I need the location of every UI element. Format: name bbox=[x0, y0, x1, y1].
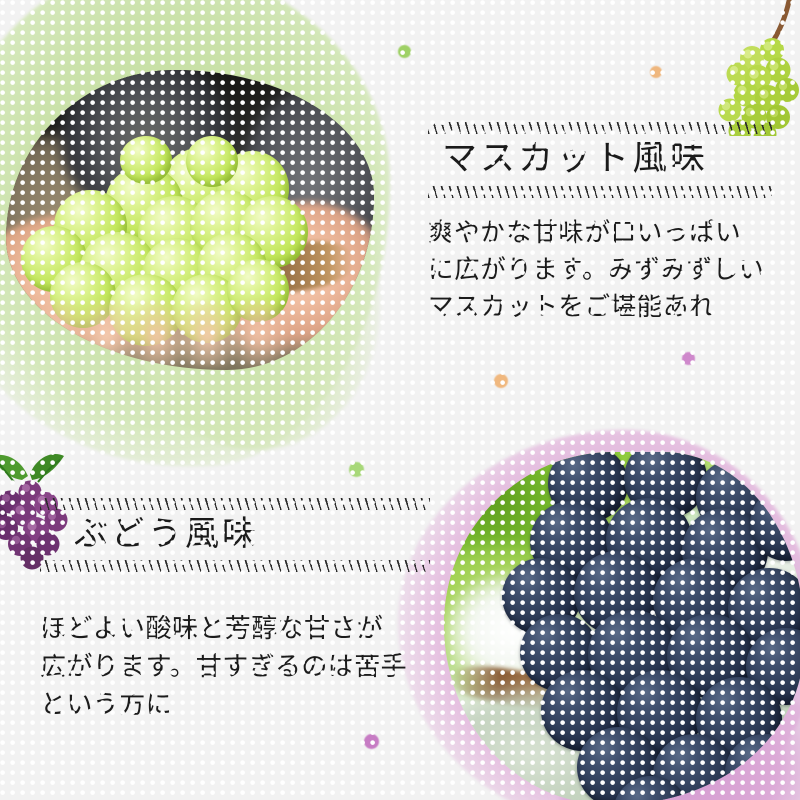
muscat-photo-florets bbox=[227, 220, 359, 322]
muscat-body-line-1: 爽やかな甘味が口いっぱい bbox=[428, 214, 772, 251]
budou-photo-berries bbox=[444, 452, 800, 800]
green-sprinkle-dot bbox=[349, 462, 364, 477]
budou-photo bbox=[444, 452, 800, 800]
budou-body: ほどよい酸味と芳醇な甘さが 広がります。甘すぎるのは苦手 という方に bbox=[40, 610, 430, 724]
muscat-body-line-3: マスカットをご堪能あれ bbox=[428, 288, 772, 325]
budou-rule-top bbox=[40, 498, 430, 510]
muscat-rule-top bbox=[428, 122, 772, 134]
budou-body-line-3: という方に bbox=[40, 686, 430, 724]
muscat-heading: マスカット風味 bbox=[428, 136, 772, 185]
muscat-photo bbox=[6, 70, 374, 370]
budou-body-line-2: 広がります。甘すぎるのは苦手 bbox=[40, 648, 430, 686]
green-grape-cluster-icon bbox=[686, 0, 800, 136]
muscat-rule-bottom bbox=[428, 186, 772, 198]
promo-banner: マスカット風味 爽やかな甘味が口いっぱい に広がります。みずみずしい マスカット… bbox=[0, 0, 800, 800]
muscat-body-line-2: に広がります。みずみずしい bbox=[428, 251, 772, 288]
budou-body-line-1: ほどよい酸味と芳醇な甘さが bbox=[40, 610, 430, 648]
orange-sprinkle-dot bbox=[650, 66, 662, 78]
muscat-text-block: マスカット風味 爽やかな甘味が口いっぱい に広がります。みずみずしい マスカット… bbox=[428, 122, 772, 325]
budou-text-block: ぶどう風味 ほどよい酸味と芳醇な甘さが 広がります。甘すぎるのは苦手 という方に bbox=[40, 498, 430, 724]
green-sprinkle-dot bbox=[398, 45, 411, 58]
muscat-body: 爽やかな甘味が口いっぱい に広がります。みずみずしい マスカットをご堪能あれ bbox=[428, 214, 772, 326]
orange-sprinkle-dot bbox=[494, 374, 508, 388]
purple-sprinkle-dot bbox=[682, 352, 695, 365]
purple-sprinkle-dot bbox=[364, 734, 379, 749]
budou-heading: ぶどう風味 bbox=[40, 512, 430, 559]
budou-rule-bottom bbox=[40, 560, 430, 572]
